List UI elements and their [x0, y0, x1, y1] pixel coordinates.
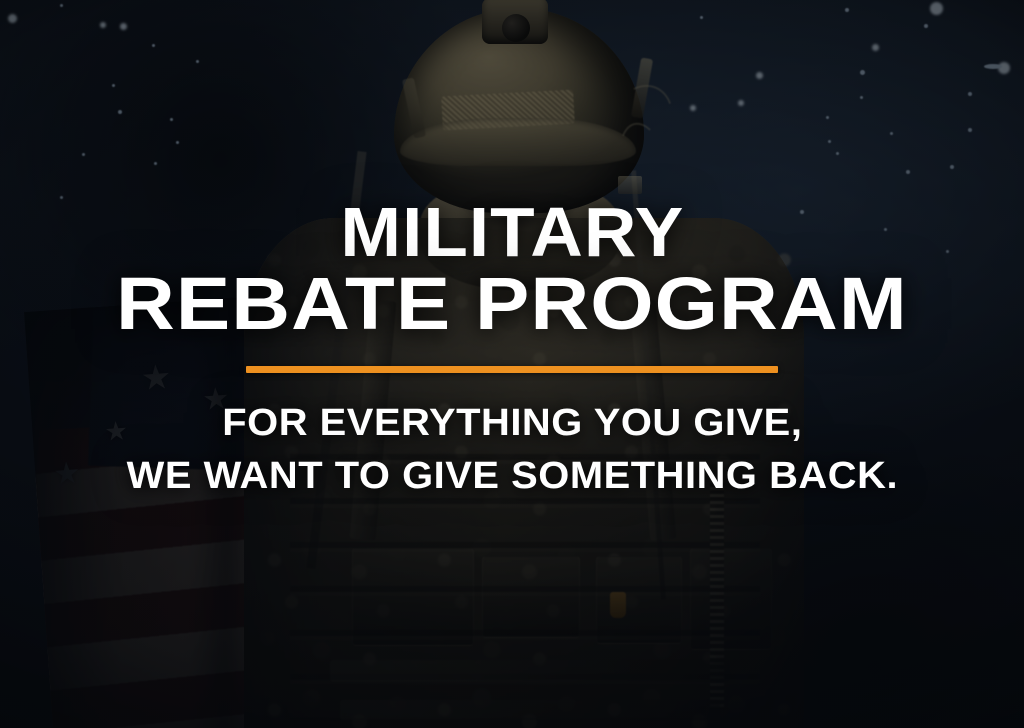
- subheadline-line-2: WE WANT TO GIVE SOMETHING BACK.: [126, 450, 897, 502]
- headline-line-1: MILITARY: [340, 200, 684, 264]
- subheadline: FOR EVERYTHING YOU GIVE, WE WANT TO GIVE…: [126, 397, 897, 502]
- banner-content: MILITARY REBATE PROGRAM FOR EVERYTHING Y…: [0, 0, 1024, 728]
- headline-line-2: REBATE PROGRAM: [116, 270, 908, 338]
- subheadline-line-1: FOR EVERYTHING YOU GIVE,: [222, 402, 802, 444]
- orange-divider: [246, 366, 778, 373]
- military-rebate-banner: ★ ★ ★ ★ ★: [0, 0, 1024, 728]
